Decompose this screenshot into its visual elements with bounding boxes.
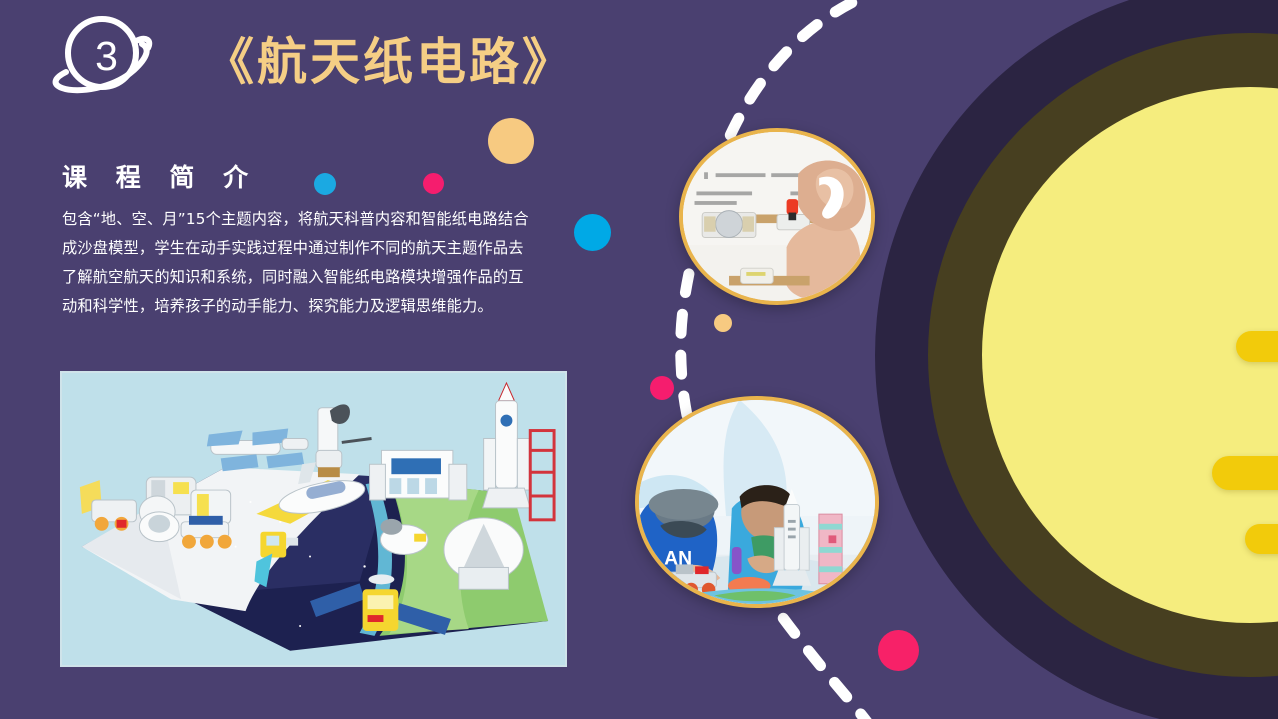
slide-number: 3 xyxy=(52,8,158,108)
dot-pink-large xyxy=(878,630,919,671)
page-title: 《航天纸电路》 xyxy=(204,22,575,94)
dot-cyan-small xyxy=(314,173,336,195)
dot-peach-large xyxy=(488,118,534,164)
yellow-pill-bottom xyxy=(1245,524,1278,554)
dashed-curve-decoration xyxy=(600,0,980,719)
intro-paragraph: 包含“地、空、月”15个主题内容，将航天科普内容和智能纸电路结合成沙盘模型，学生… xyxy=(62,205,532,321)
dot-pink-small xyxy=(423,173,444,194)
space-diorama-photo xyxy=(60,371,567,667)
section-heading: 课 程 简 介 xyxy=(62,158,258,194)
presentation-slide: 3 《航天纸电路》 课 程 简 介 包含“地、空、月”15个主题内容，将航天科普… xyxy=(0,0,1278,719)
yellow-pill-top xyxy=(1236,331,1278,362)
yellow-pill-middle xyxy=(1212,456,1278,490)
paper-circuit-hands-photo xyxy=(679,128,875,305)
dot-cyan-large xyxy=(574,214,611,251)
dot-pink-medium xyxy=(650,376,674,400)
dot-peach-small xyxy=(714,314,732,332)
students-building-photo: AN xyxy=(635,396,879,608)
